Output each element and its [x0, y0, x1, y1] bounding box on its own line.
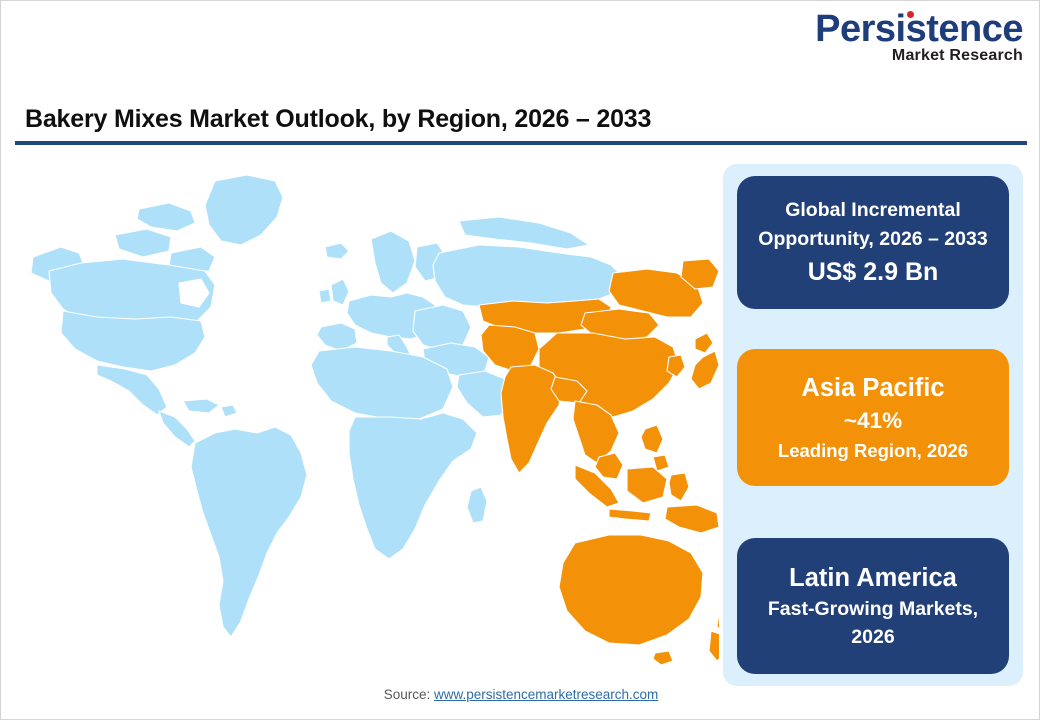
card1-line1: Global Incremental	[785, 196, 961, 225]
source-link[interactable]: www.persistencemarketresearch.com	[434, 687, 658, 702]
card3-subtitle-line1: Fast-Growing Markets,	[768, 595, 978, 623]
infographic-page: Persistence Market Research Bakery Mixes…	[0, 0, 1040, 720]
card3-title: Latin America	[789, 561, 957, 595]
card2-subtitle: Leading Region, 2026	[778, 437, 968, 464]
card2-title: Asia Pacific	[801, 372, 944, 405]
logo-wordmark: Persistence	[815, 9, 1023, 49]
page-title: Bakery Mixes Market Outlook, by Region, …	[25, 105, 1015, 134]
world-map-svg	[19, 161, 719, 671]
source-label: Source:	[384, 687, 434, 702]
title-underline-rule	[15, 141, 1027, 145]
company-logo: Persistence Market Research	[803, 9, 1023, 71]
card3-subtitle-line2: 2026	[851, 623, 894, 651]
card1-line2: Opportunity, 2026 – 2033	[758, 225, 987, 254]
logo-name: Persistence	[815, 8, 1023, 50]
card-fast-growing-market[interactable]: Latin America Fast-Growing Markets, 2026	[737, 538, 1009, 674]
card2-value: ~41%	[844, 405, 902, 436]
card-global-incremental-opportunity[interactable]: Global Incremental Opportunity, 2026 – 2…	[737, 176, 1009, 309]
card1-value: US$ 2.9 Bn	[808, 256, 939, 289]
card-leading-region[interactable]: Asia Pacific ~41% Leading Region, 2026	[737, 349, 1009, 486]
stats-panel: Global Incremental Opportunity, 2026 – 2…	[723, 164, 1023, 686]
source-footer: Source: www.persistencemarketresearch.co…	[1, 687, 1040, 702]
map-highlighted-asia-pacific	[479, 259, 719, 665]
world-map	[19, 161, 719, 671]
